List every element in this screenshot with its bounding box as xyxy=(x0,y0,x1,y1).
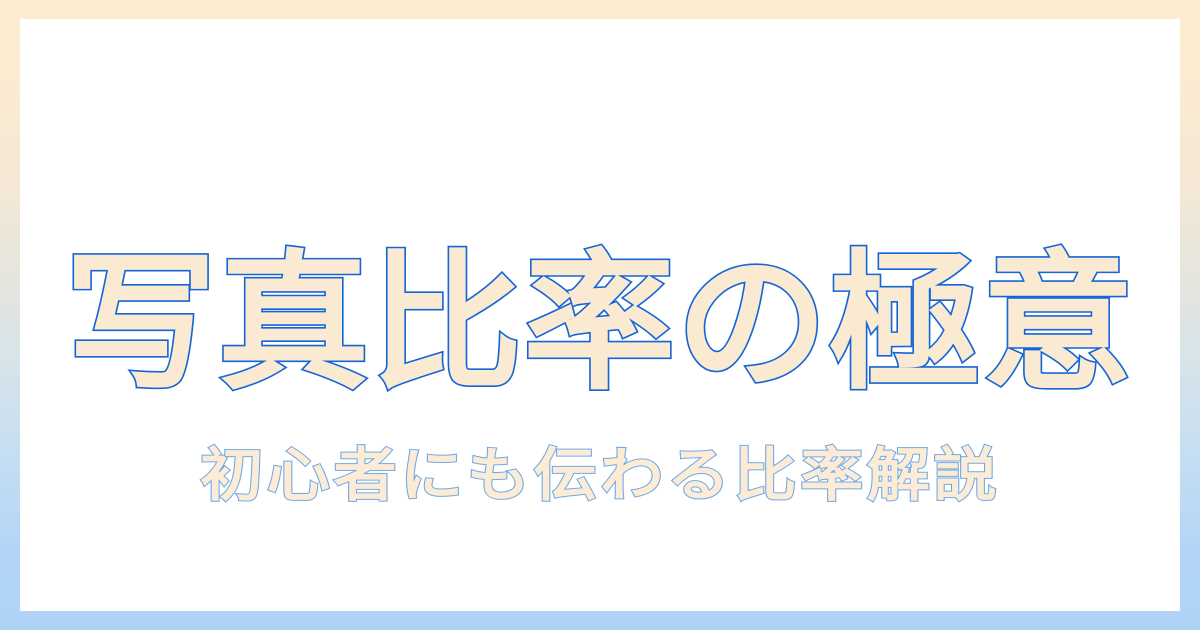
subtitle-container: 初心者にも伝わる比率解説 xyxy=(20,387,1180,564)
page-subtitle: 初心者にも伝わる比率解説 xyxy=(200,445,1000,506)
page-title: 写真比率の極意 xyxy=(65,248,1135,401)
inner-white-panel: 写真比率の極意 初心者にも伝わる比率解説 xyxy=(20,19,1180,611)
poster-content: 写真比率の極意 初心者にも伝わる比率解説 xyxy=(20,19,1180,611)
poster-canvas: 写真比率の極意 初心者にも伝わる比率解説 xyxy=(0,0,1200,630)
